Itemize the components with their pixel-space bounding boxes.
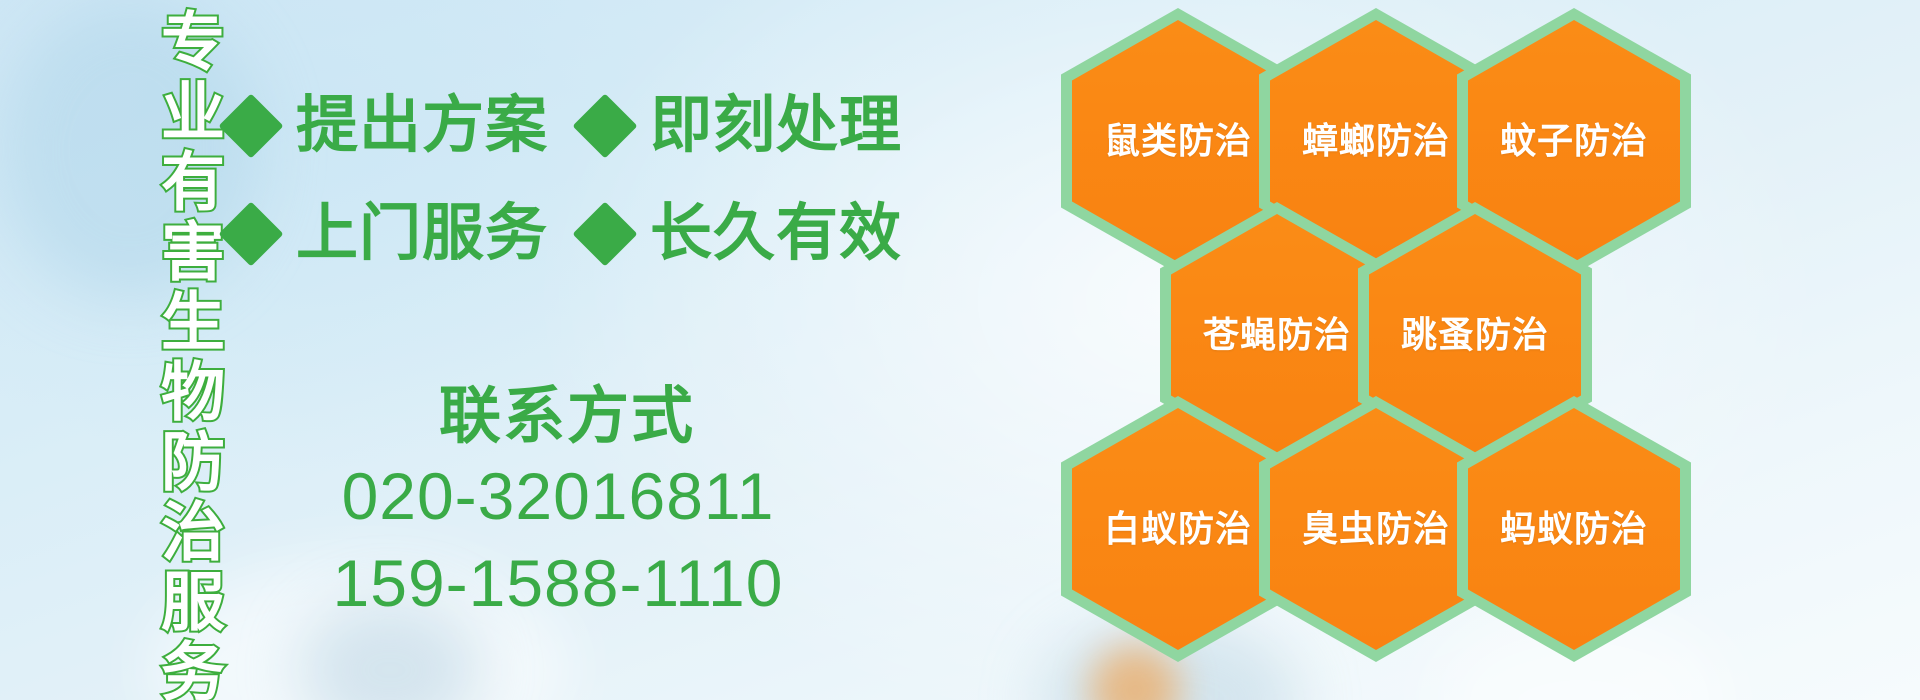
feature-label: 长久有效	[650, 203, 902, 265]
hex-label: 蚊子防治	[1500, 123, 1648, 159]
feature-item-onsite-service: 上门服务	[228, 203, 548, 265]
feature-row: 上门服务 长久有效	[228, 180, 878, 288]
hex-label: 跳蚤防治	[1401, 317, 1549, 353]
contact-heading: 联系方式	[246, 380, 888, 453]
feature-item-propose-plan: 提出方案	[228, 95, 548, 157]
hex-label: 白蚁防治	[1104, 511, 1252, 547]
feature-label: 即刻处理	[650, 95, 902, 157]
contact-block: 联系方式 020-32016811 159-1588-1110	[228, 380, 888, 627]
feature-item-long-lasting: 长久有效	[582, 203, 902, 265]
hex-label: 蚂蚁防治	[1500, 511, 1648, 547]
hex-label: 臭虫防治	[1302, 511, 1450, 547]
feature-item-immediate-handling: 即刻处理	[582, 95, 902, 157]
hex-inner: 白蚁防治	[1072, 408, 1284, 650]
feature-list: 提出方案 即刻处理 上门服务 长久有效	[228, 72, 878, 288]
diamond-bullet-icon	[218, 93, 283, 158]
hex-label: 苍蝇防治	[1203, 317, 1351, 353]
hex-inner: 蚂蚁防治	[1468, 408, 1680, 650]
diamond-bullet-icon	[572, 93, 637, 158]
hex-label: 蟑螂防治	[1302, 123, 1450, 159]
pest-control-banner: 专业有害生物防治服务 提出方案 即刻处理 上门服务 长久有效 联	[0, 0, 1920, 700]
phone-number-landline[interactable]: 020-32016811	[228, 453, 888, 540]
vertical-headline: 专业有害生物防治服务	[108, 8, 220, 568]
diamond-bullet-icon	[572, 201, 637, 266]
phone-number-mobile[interactable]: 159-1588-1110	[228, 540, 888, 627]
diamond-bullet-icon	[218, 201, 283, 266]
hex-label: 鼠类防治	[1104, 123, 1252, 159]
feature-row: 提出方案 即刻处理	[228, 72, 878, 180]
service-hex-grid: 鼠类防治 蟑螂防治 蚊子防治 苍蝇防治 跳蚤防治 白蚁防治	[1055, 0, 1795, 660]
feature-label: 上门服务	[296, 203, 548, 265]
feature-label: 提出方案	[296, 95, 548, 157]
hex-inner: 臭虫防治	[1270, 408, 1482, 650]
